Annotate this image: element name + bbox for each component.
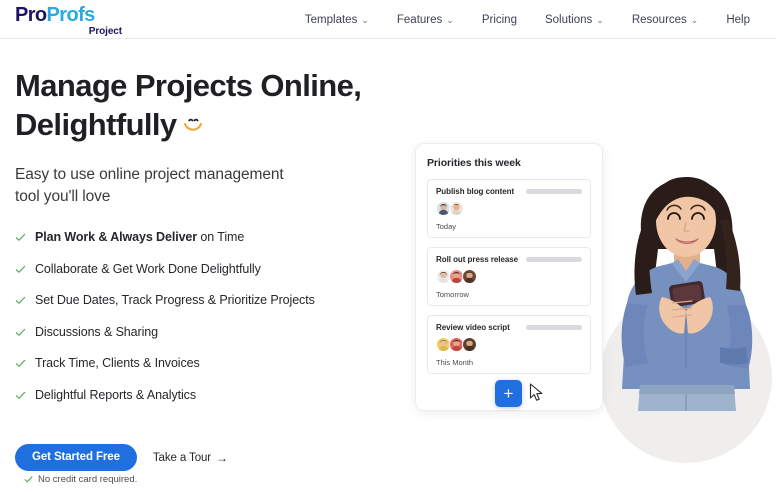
smiley-face-icon bbox=[180, 107, 206, 146]
check-icon bbox=[15, 358, 26, 369]
task-header: Review video script bbox=[436, 323, 582, 332]
get-started-free-button[interactable]: Get Started Free bbox=[15, 444, 137, 471]
nav-item-features[interactable]: Features ⌄ bbox=[383, 0, 468, 39]
feature-text: Collaborate & Get Work Done Delightfully bbox=[35, 262, 261, 277]
cta-row: Get Started Free Take a Tour → bbox=[15, 444, 228, 471]
hero-subheading: Easy to use online project management to… bbox=[15, 164, 405, 208]
task-due-date: This Month bbox=[436, 358, 582, 367]
nav-label: Solutions bbox=[545, 14, 592, 26]
task-assignees bbox=[436, 201, 582, 216]
task-progress-bar bbox=[526, 257, 582, 262]
avatar[interactable] bbox=[462, 337, 477, 352]
nav-item-solutions[interactable]: Solutions ⌄ bbox=[531, 0, 618, 39]
take-a-tour-link[interactable]: Take a Tour → bbox=[153, 452, 228, 464]
task-due-date: Today bbox=[436, 222, 582, 231]
logo-wordmark: ProProfs bbox=[15, 5, 125, 26]
task-header: Roll out press release bbox=[436, 255, 582, 264]
subhead-line-2: tool you'll love bbox=[15, 188, 110, 205]
no-credit-card-text: No credit card required. bbox=[38, 474, 137, 485]
check-icon bbox=[15, 264, 26, 275]
task-card[interactable]: Publish blog content Today bbox=[427, 179, 591, 238]
feature-text-rest: on Time bbox=[197, 230, 244, 244]
task-title: Review video script bbox=[436, 323, 510, 332]
list-item: Plan Work & Always Deliver on Time bbox=[15, 230, 405, 245]
task-assignees bbox=[436, 337, 582, 352]
tour-label: Take a Tour bbox=[153, 452, 211, 464]
proprofs-logo[interactable]: ProProfs Project bbox=[15, 5, 125, 36]
nav-item-help[interactable]: Help bbox=[712, 0, 764, 39]
arrow-right-icon: → bbox=[216, 452, 228, 464]
headline-line-2: Delightfully bbox=[15, 107, 177, 142]
nav-item-pricing[interactable]: Pricing bbox=[468, 0, 531, 39]
hero-left-column: Manage Projects Online, Delightfully Eas… bbox=[15, 66, 405, 419]
nav-label: Templates bbox=[305, 14, 357, 26]
subhead-line-1: Easy to use online project management bbox=[15, 166, 284, 183]
list-item: Discussions & Sharing bbox=[15, 325, 405, 340]
hero-person-illustration bbox=[596, 163, 776, 411]
logo-pro-text: Pro bbox=[15, 4, 47, 26]
task-progress-bar bbox=[526, 325, 582, 330]
chevron-down-icon: ⌄ bbox=[691, 16, 699, 25]
feature-text: Discussions & Sharing bbox=[35, 325, 158, 340]
list-item: Collaborate & Get Work Done Delightfully bbox=[15, 262, 405, 277]
feature-list: Plan Work & Always Deliver on Time Colla… bbox=[15, 230, 405, 403]
check-icon bbox=[24, 475, 33, 484]
list-item: Track Time, Clients & Invoices bbox=[15, 356, 405, 371]
task-assignees bbox=[436, 269, 582, 284]
nav-label: Pricing bbox=[482, 14, 517, 26]
task-due-date: Tomorrow bbox=[436, 290, 582, 299]
main-navigation: Templates ⌄ Features ⌄ Pricing Solutions… bbox=[291, 0, 764, 39]
feature-text-strong: Plan Work & Always Deliver bbox=[35, 230, 197, 244]
avatar[interactable] bbox=[462, 269, 477, 284]
nav-label: Help bbox=[726, 14, 750, 26]
check-icon bbox=[15, 295, 26, 306]
task-title: Publish blog content bbox=[436, 187, 514, 196]
priorities-card: Priorities this week Publish blog conten… bbox=[415, 143, 603, 411]
list-item: Delightful Reports & Analytics bbox=[15, 388, 405, 403]
chevron-down-icon: ⌄ bbox=[446, 16, 454, 25]
nav-item-resources[interactable]: Resources ⌄ bbox=[618, 0, 713, 39]
avatar[interactable] bbox=[449, 201, 464, 216]
feature-text: Delightful Reports & Analytics bbox=[35, 388, 196, 403]
chevron-down-icon: ⌄ bbox=[596, 16, 604, 25]
site-header: ProProfs Project Templates ⌄ Features ⌄ … bbox=[0, 0, 776, 39]
nav-item-templates[interactable]: Templates ⌄ bbox=[291, 0, 383, 39]
landing-page: ProProfs Project Templates ⌄ Features ⌄ … bbox=[0, 0, 776, 492]
priorities-card-title: Priorities this week bbox=[427, 157, 591, 169]
no-credit-card-note: No credit card required. bbox=[24, 474, 137, 485]
feature-text: Set Due Dates, Track Progress & Prioriti… bbox=[35, 293, 315, 308]
add-task-button[interactable]: + bbox=[495, 380, 522, 407]
task-header: Publish blog content bbox=[436, 187, 582, 196]
feature-text: Track Time, Clients & Invoices bbox=[35, 356, 200, 371]
check-icon bbox=[15, 390, 26, 401]
feature-text: Plan Work & Always Deliver on Time bbox=[35, 230, 244, 245]
task-progress-bar bbox=[526, 189, 582, 194]
logo-product-text: Project bbox=[15, 26, 125, 37]
task-title: Roll out press release bbox=[436, 255, 518, 264]
check-icon bbox=[15, 327, 26, 338]
check-icon bbox=[15, 232, 26, 243]
task-card[interactable]: Roll out press release Tomorrow bbox=[427, 247, 591, 306]
logo-profs-text: Profs bbox=[47, 4, 95, 26]
woman-using-phone-image bbox=[596, 163, 776, 411]
nav-label: Resources bbox=[632, 14, 687, 26]
task-card[interactable]: Review video script This Month bbox=[427, 315, 591, 374]
list-item: Set Due Dates, Track Progress & Prioriti… bbox=[15, 293, 405, 308]
page-title: Manage Projects Online, Delightfully bbox=[15, 66, 405, 146]
headline-line-1: Manage Projects Online, bbox=[15, 68, 361, 103]
nav-label: Features bbox=[397, 14, 442, 26]
chevron-down-icon: ⌄ bbox=[361, 16, 369, 25]
